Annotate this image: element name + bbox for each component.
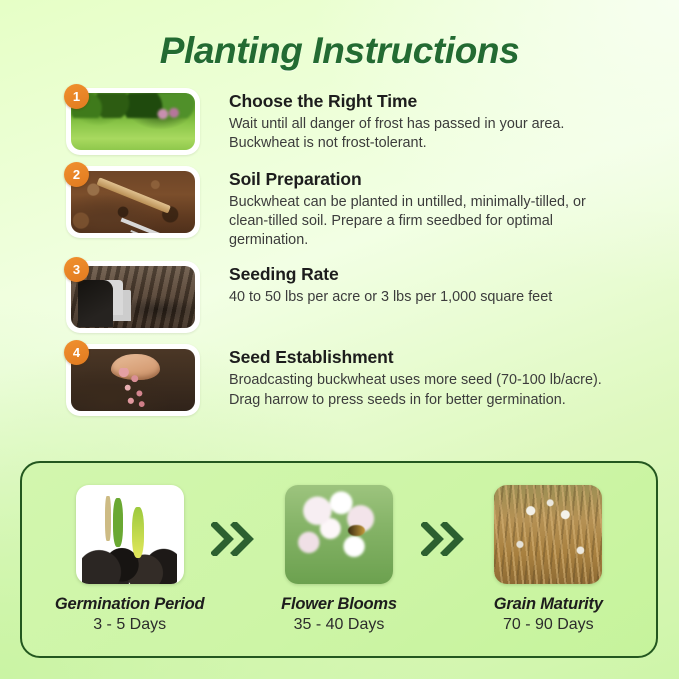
hoe-furrow-artwork — [71, 266, 195, 328]
step-item-1: 1 Choose the Right Time Wait until all d… — [66, 88, 626, 155]
double-chevron-right-icon — [211, 522, 257, 556]
step-thumbnail-3: 3 — [66, 261, 200, 333]
buckwheat-flowers-photo — [285, 485, 393, 584]
step-text-1: Choose the Right Time Wait until all dan… — [200, 88, 626, 153]
mature-grain-photo — [494, 485, 602, 584]
timeline-phase-flower: Flower Blooms 35 - 40 Days — [257, 485, 420, 634]
step-text-3: Seeding Rate 40 to 50 lbs per acre or 3 … — [200, 261, 626, 307]
double-chevron-right-icon-2 — [421, 522, 467, 556]
step-thumbnail-2: 2 — [66, 166, 200, 238]
steps-list: 1 Choose the Right Time Wait until all d… — [66, 88, 626, 427]
step-title-2: Soil Preparation — [229, 169, 626, 190]
page-title: Planting Instructions — [0, 30, 679, 72]
sprout-artwork — [76, 485, 184, 584]
step-title-1: Choose the Right Time — [229, 91, 626, 112]
step-thumbnail-4: 4 — [66, 344, 200, 416]
step-number-badge-2: 2 — [64, 162, 89, 187]
rake-on-soil-artwork — [71, 171, 195, 233]
hand-sowing-seeds-photo — [71, 349, 195, 411]
lawn-garden-artwork — [71, 93, 195, 150]
sprout-photo — [76, 485, 184, 584]
step-number-badge-1: 1 — [64, 84, 89, 109]
phase-days-flower: 35 - 40 Days — [294, 616, 385, 634]
lawn-garden-photo — [71, 93, 195, 150]
rake-on-soil-photo — [71, 171, 195, 233]
step-description-2: Buckwheat can be planted in untilled, mi… — [229, 193, 626, 250]
phase-name-grain: Grain Maturity — [494, 595, 603, 614]
step-text-4: Seed Establishment Broadcasting buckwhea… — [200, 344, 626, 409]
step-description-1: Wait until all danger of frost has passe… — [229, 115, 626, 153]
step-description-3: 40 to 50 lbs per acre or 3 lbs per 1,000… — [229, 288, 626, 307]
step-title-4: Seed Establishment — [229, 347, 626, 368]
mature-grain-artwork — [494, 485, 602, 584]
hand-sowing-seeds-artwork — [71, 349, 195, 411]
buckwheat-flowers-artwork — [285, 485, 393, 584]
step-title-3: Seeding Rate — [229, 264, 626, 285]
timeline-phase-germination: Germination Period 3 - 5 Days — [48, 485, 211, 634]
step-item-2: 2 Soil Preparation Buckwheat can be plan… — [66, 166, 626, 250]
step-item-3: 3 Seeding Rate 40 to 50 lbs per acre or … — [66, 261, 626, 333]
phase-days-germination: 3 - 5 Days — [93, 616, 166, 634]
step-description-4: Broadcasting buckwheat uses more seed (7… — [229, 371, 626, 409]
step-text-2: Soil Preparation Buckwheat can be plante… — [200, 166, 626, 250]
step-thumbnail-1: 1 — [66, 88, 200, 155]
phase-days-grain: 70 - 90 Days — [503, 616, 594, 634]
step-item-4: 4 Seed Establishment Broadcasting buckwh… — [66, 344, 626, 416]
phase-name-germination: Germination Period — [55, 595, 205, 614]
timeline-phase-grain: Grain Maturity 70 - 90 Days — [467, 485, 630, 634]
growth-timeline-panel: Germination Period 3 - 5 Days Flower Blo… — [20, 461, 658, 658]
phase-name-flower: Flower Blooms — [281, 595, 397, 614]
hoe-furrow-photo — [71, 266, 195, 328]
planting-instructions-infographic: Planting Instructions 1 Choose the Right… — [0, 0, 679, 679]
